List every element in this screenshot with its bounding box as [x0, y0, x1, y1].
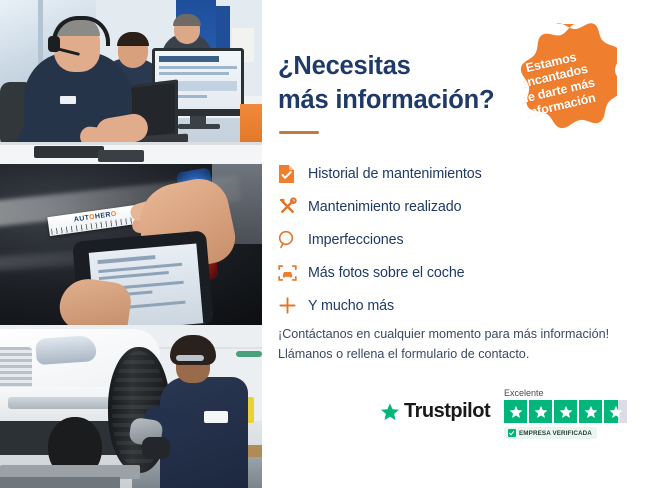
- trustpilot-star-icon: [380, 402, 400, 422]
- feature-label: Mantenimiento realizado: [308, 199, 461, 215]
- trustpilot-wordmark: Trustpilot: [404, 400, 490, 423]
- title-divider: [279, 131, 319, 134]
- feature-item-mantenimiento[interactable]: Mantenimiento realizado: [278, 190, 638, 223]
- feature-item-mas[interactable]: Y mucho más: [278, 289, 638, 322]
- page-title: ¿Necesitas más información?: [278, 50, 518, 117]
- trustpilot-block: Trustpilot Excelente EMPRESA VERIFICA: [380, 388, 640, 446]
- document-check-icon: [278, 164, 308, 184]
- plus-icon: [278, 296, 308, 315]
- content-panel: ¿Necesitas más información? Estamos enca…: [262, 0, 650, 488]
- feature-label: Historial de mantenimientos: [308, 166, 482, 182]
- feature-label: Y mucho más: [308, 298, 394, 314]
- tools-cross-icon: [278, 197, 308, 216]
- photo-collage: AUTOHERO: [0, 0, 262, 488]
- magnifier-icon: [278, 230, 308, 249]
- check-badge-icon: [508, 429, 516, 437]
- star-rating: [504, 400, 640, 423]
- feature-item-imperfecciones[interactable]: Imperfecciones: [278, 223, 638, 256]
- paragraph-line-2: Llámanos o rellena el formulario de cont…: [278, 345, 638, 365]
- feature-item-fotos[interactable]: Más fotos sobre el coche: [278, 256, 638, 289]
- title-line-1: ¿Necesitas: [278, 50, 518, 84]
- mechanic-tyre-inspection-photo: [0, 325, 262, 488]
- star-5-partial: [604, 400, 627, 423]
- verified-label: EMPRESA VERIFICADA: [519, 430, 592, 437]
- verified-badge: EMPRESA VERIFICADA: [504, 427, 597, 439]
- star-2: [529, 400, 552, 423]
- star-4: [579, 400, 602, 423]
- trustpilot-logo[interactable]: Trustpilot: [380, 400, 490, 423]
- car-frame-icon: [278, 264, 308, 282]
- contact-paragraph: ¡Contáctanos en cualquier momento para m…: [278, 325, 638, 364]
- car-inspection-ruler-photo: AUTOHERO: [0, 164, 262, 325]
- feature-label: Imperfecciones: [308, 232, 404, 248]
- title-line-2: más información?: [278, 84, 518, 118]
- headset-icon: [483, 33, 506, 51]
- feature-label: Más fotos sobre el coche: [308, 265, 465, 281]
- promo-card: AUTOHERO: [0, 0, 650, 488]
- feature-item-historial[interactable]: Historial de mantenimientos: [278, 157, 638, 190]
- feature-list: Historial de mantenimientos Mantenimient…: [278, 157, 638, 322]
- call-center-agents-photo: [0, 0, 262, 164]
- paragraph-line-1: ¡Contáctanos en cualquier momento para m…: [278, 325, 638, 345]
- info-badge: Estamos encantados de darte más informac…: [495, 22, 617, 146]
- rating-label: Excelente: [504, 388, 640, 398]
- trustpilot-rating: Excelente EMPRESA VERIFICADA: [504, 388, 640, 442]
- star-3: [554, 400, 577, 423]
- star-1: [504, 400, 527, 423]
